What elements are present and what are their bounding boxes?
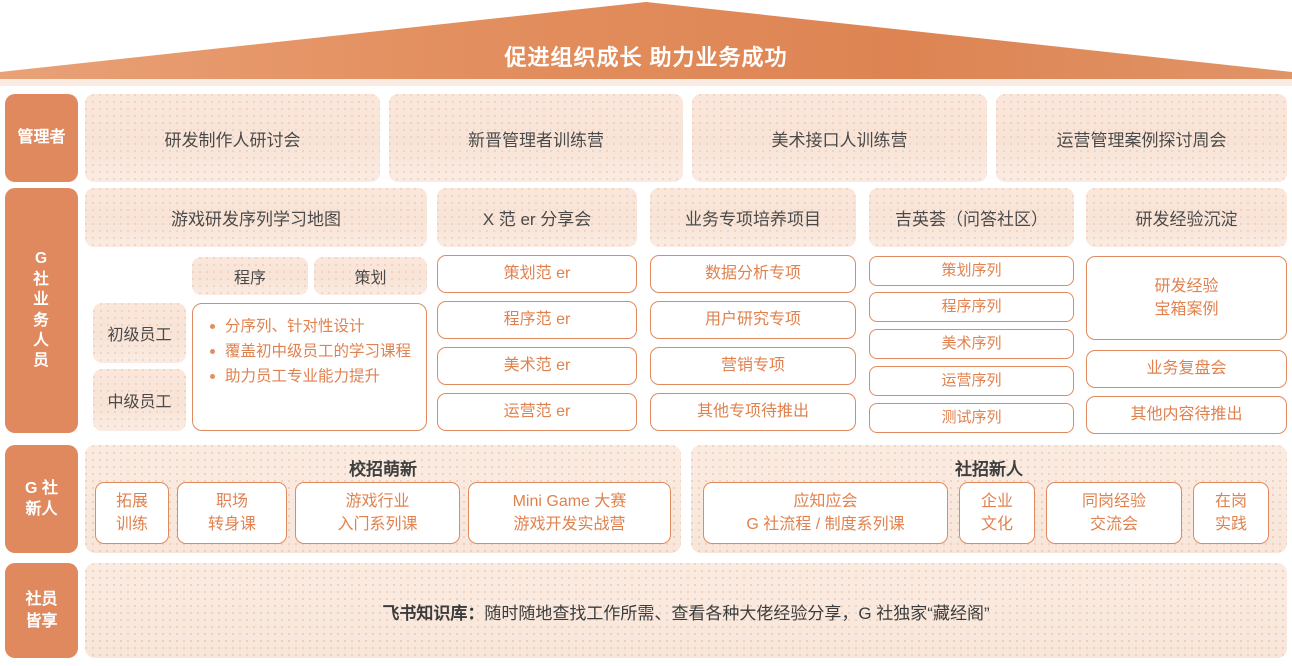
col-b-header-label: X 范 er 分享会 (483, 205, 592, 230)
knowledge-base-strong: 飞书知识库： (382, 604, 484, 623)
sidebar-business-char-4: 人 (33, 331, 50, 351)
col-c-item-2-label: 营销专项 (721, 356, 785, 377)
col-e-header-label: 研发经验沉淀 (1136, 205, 1238, 230)
col-a-header-label: 游戏研发序列学习地图 (171, 205, 341, 230)
campus-item-1[interactable]: 职场 转身课 (177, 482, 287, 544)
col-d-item-2[interactable]: 美术序列 (869, 329, 1074, 359)
social-item-0-line1: 应知应会 (793, 490, 857, 513)
sidebar-item-all-members[interactable]: 社员 皆享 (5, 563, 78, 658)
campus-item-3-line1: Mini Game 大赛 (513, 490, 627, 513)
campus-item-1-line2: 转身课 (208, 513, 256, 536)
knowledge-base-rest: 随时随地查找工作所需、查看各种大佬经验分享，G 社独家“藏经阁” (484, 604, 989, 623)
sidebar-business-char-1: 社 (33, 270, 50, 290)
col-c-item-0[interactable]: 数据分析专项 (650, 255, 856, 293)
col-b-header[interactable]: X 范 er 分享会 (437, 188, 637, 247)
col-b-item-1[interactable]: 程序范 er (437, 301, 637, 339)
manager-card-1-label: 研发制作人研讨会 (165, 126, 301, 151)
col-b-item-2[interactable]: 美术范 er (437, 347, 637, 385)
campus-item-2-line2: 入门系列课 (337, 513, 417, 536)
knowledge-base-text: 飞书知识库：随时随地查找工作所需、查看各种大佬经验分享，G 社独家“藏经阁” (85, 599, 1287, 624)
campus-item-1-line1: 职场 (216, 490, 248, 513)
col-e-item-0-line2: 宝箱案例 (1154, 298, 1218, 321)
col-c-item-2[interactable]: 营销专项 (650, 347, 856, 385)
col-d-item-3-label: 运营序列 (941, 371, 1001, 391)
manager-card-4[interactable]: 运营管理案例探讨周会 (996, 94, 1287, 182)
col-c-item-0-label: 数据分析专项 (705, 264, 801, 285)
col-a-subchip-program-label: 程序 (234, 264, 266, 288)
col-d-item-2-label: 美术序列 (941, 334, 1001, 354)
social-item-3[interactable]: 在岗 实践 (1193, 482, 1269, 544)
social-item-0-line2: G 社流程 / 制度系列课 (746, 513, 904, 536)
campus-item-2[interactable]: 游戏行业 入门系列课 (295, 482, 460, 544)
col-d-header-label: 吉英荟（问答社区） (895, 205, 1048, 230)
col-a-subchip-planning[interactable]: 策划 (314, 257, 427, 295)
col-e-item-0-line1: 研发经验 (1154, 275, 1218, 298)
manager-card-4-label: 运营管理案例探讨周会 (1057, 126, 1227, 151)
col-d-item-1[interactable]: 程序序列 (869, 292, 1074, 322)
manager-card-3[interactable]: 美术接口人训练营 (692, 94, 987, 182)
pyramid-training-system: 促进组织成长 助力业务成功 管理者 研发制作人研讨会 新晋管理者训练营 美术接口… (0, 0, 1292, 666)
sidebar-item-managers[interactable]: 管理者 (5, 94, 78, 182)
social-item-1[interactable]: 企业 文化 (959, 482, 1035, 544)
social-item-3-line1: 在岗 (1215, 490, 1247, 513)
col-b-item-2-label: 美术范 er (504, 356, 571, 377)
col-b-item-0-label: 策划范 er (504, 264, 571, 285)
social-item-2-line2: 交流会 (1090, 513, 1138, 536)
knowledge-base-panel[interactable]: 飞书知识库：随时随地查找工作所需、查看各种大佬经验分享，G 社独家“藏经阁” (85, 563, 1287, 658)
social-item-1-line1: 企业 (981, 490, 1013, 513)
manager-card-2[interactable]: 新晋管理者训练营 (389, 94, 683, 182)
col-a-bullet-2: 助力员工专业能力提升 (209, 364, 412, 389)
col-a-level-mid-label: 中级员工 (107, 388, 171, 412)
col-a-bullet-0: 分序列、针对性设计 (209, 314, 412, 339)
campus-item-3-line2: 游戏开发实战营 (513, 513, 625, 536)
col-a-bullet-card: 分序列、针对性设计 覆盖初中级员工的学习课程 助力员工专业能力提升 (192, 303, 427, 431)
col-e-item-1-label: 业务复盘会 (1146, 359, 1226, 380)
col-d-header[interactable]: 吉英荟（问答社区） (869, 188, 1074, 247)
sidebar-business-char-3: 务 (33, 311, 50, 331)
col-b-item-0[interactable]: 策划范 er (437, 255, 637, 293)
col-e-item-2[interactable]: 其他内容待推出 (1086, 396, 1287, 434)
col-d-item-0-label: 策划序列 (941, 261, 1001, 281)
col-d-item-0[interactable]: 策划序列 (869, 256, 1074, 286)
campus-item-2-line1: 游戏行业 (345, 490, 409, 513)
sidebar-newcomers-line2: 新人 (25, 499, 57, 520)
col-e-item-0[interactable]: 研发经验 宝箱案例 (1086, 256, 1287, 340)
social-item-1-line2: 文化 (981, 513, 1013, 536)
col-e-item-2-label: 其他内容待推出 (1130, 405, 1242, 426)
col-a-bullet-1: 覆盖初中级员工的学习课程 (209, 339, 412, 364)
social-hire-title: 社招新人 (691, 455, 1287, 480)
col-a-level-junior-label: 初级员工 (107, 321, 171, 345)
col-b-item-1-label: 程序范 er (504, 310, 571, 331)
col-c-header[interactable]: 业务专项培养项目 (650, 188, 856, 247)
sidebar-business-char-2: 业 (33, 290, 50, 310)
col-c-item-3-label: 其他专项待推出 (697, 402, 809, 423)
sidebar-business-char-5: 员 (33, 351, 50, 371)
col-c-item-3[interactable]: 其他专项待推出 (650, 393, 856, 431)
col-d-item-4-label: 测试序列 (941, 408, 1001, 428)
col-e-header[interactable]: 研发经验沉淀 (1086, 188, 1287, 247)
campus-item-0-line1: 拓展 (116, 490, 148, 513)
col-b-item-3[interactable]: 运营范 er (437, 393, 637, 431)
social-item-0[interactable]: 应知应会 G 社流程 / 制度系列课 (703, 482, 948, 544)
col-e-item-1[interactable]: 业务复盘会 (1086, 350, 1287, 388)
manager-card-1[interactable]: 研发制作人研讨会 (85, 94, 380, 182)
col-d-item-1-label: 程序序列 (941, 297, 1001, 317)
col-c-item-1[interactable]: 用户研究专项 (650, 301, 856, 339)
sidebar-all-members-line1: 社员 (25, 589, 57, 610)
sidebar-all-members-line2: 皆享 (25, 611, 57, 632)
sidebar-item-business-staff[interactable]: G 社 业 务 人 员 (5, 188, 78, 433)
sidebar-business-char-0: G (35, 249, 48, 269)
col-d-item-4[interactable]: 测试序列 (869, 403, 1074, 433)
col-b-item-3-label: 运营范 er (504, 402, 571, 423)
campus-item-0-line2: 训练 (116, 513, 148, 536)
social-item-2[interactable]: 同岗经验 交流会 (1046, 482, 1182, 544)
col-a-subchip-program[interactable]: 程序 (192, 257, 308, 295)
col-a-level-mid[interactable]: 中级员工 (93, 369, 186, 431)
sidebar-item-newcomers[interactable]: G 社 新人 (5, 445, 78, 553)
campus-hire-title: 校招萌新 (85, 455, 681, 480)
col-c-item-1-label: 用户研究专项 (705, 310, 801, 331)
roof-banner: 促进组织成长 助力业务成功 (0, 0, 1292, 86)
social-item-2-line1: 同岗经验 (1082, 490, 1146, 513)
sidebar-newcomers-line1: G 社 (25, 478, 58, 499)
campus-item-3[interactable]: Mini Game 大赛 游戏开发实战营 (468, 482, 671, 544)
social-item-3-line2: 实践 (1215, 513, 1247, 536)
banner-title: 促进组织成长 助力业务成功 (0, 40, 1292, 72)
manager-card-2-label: 新晋管理者训练营 (468, 126, 604, 151)
campus-item-0[interactable]: 拓展 训练 (95, 482, 169, 544)
sidebar-item-managers-label: 管理者 (17, 127, 65, 148)
col-a-level-junior[interactable]: 初级员工 (93, 303, 186, 363)
col-a-subchip-planning-label: 策划 (354, 264, 386, 288)
col-a-header[interactable]: 游戏研发序列学习地图 (85, 188, 427, 247)
manager-card-3-label: 美术接口人训练营 (772, 126, 908, 151)
col-c-header-label: 业务专项培养项目 (685, 205, 821, 230)
col-d-item-3[interactable]: 运营序列 (869, 366, 1074, 396)
